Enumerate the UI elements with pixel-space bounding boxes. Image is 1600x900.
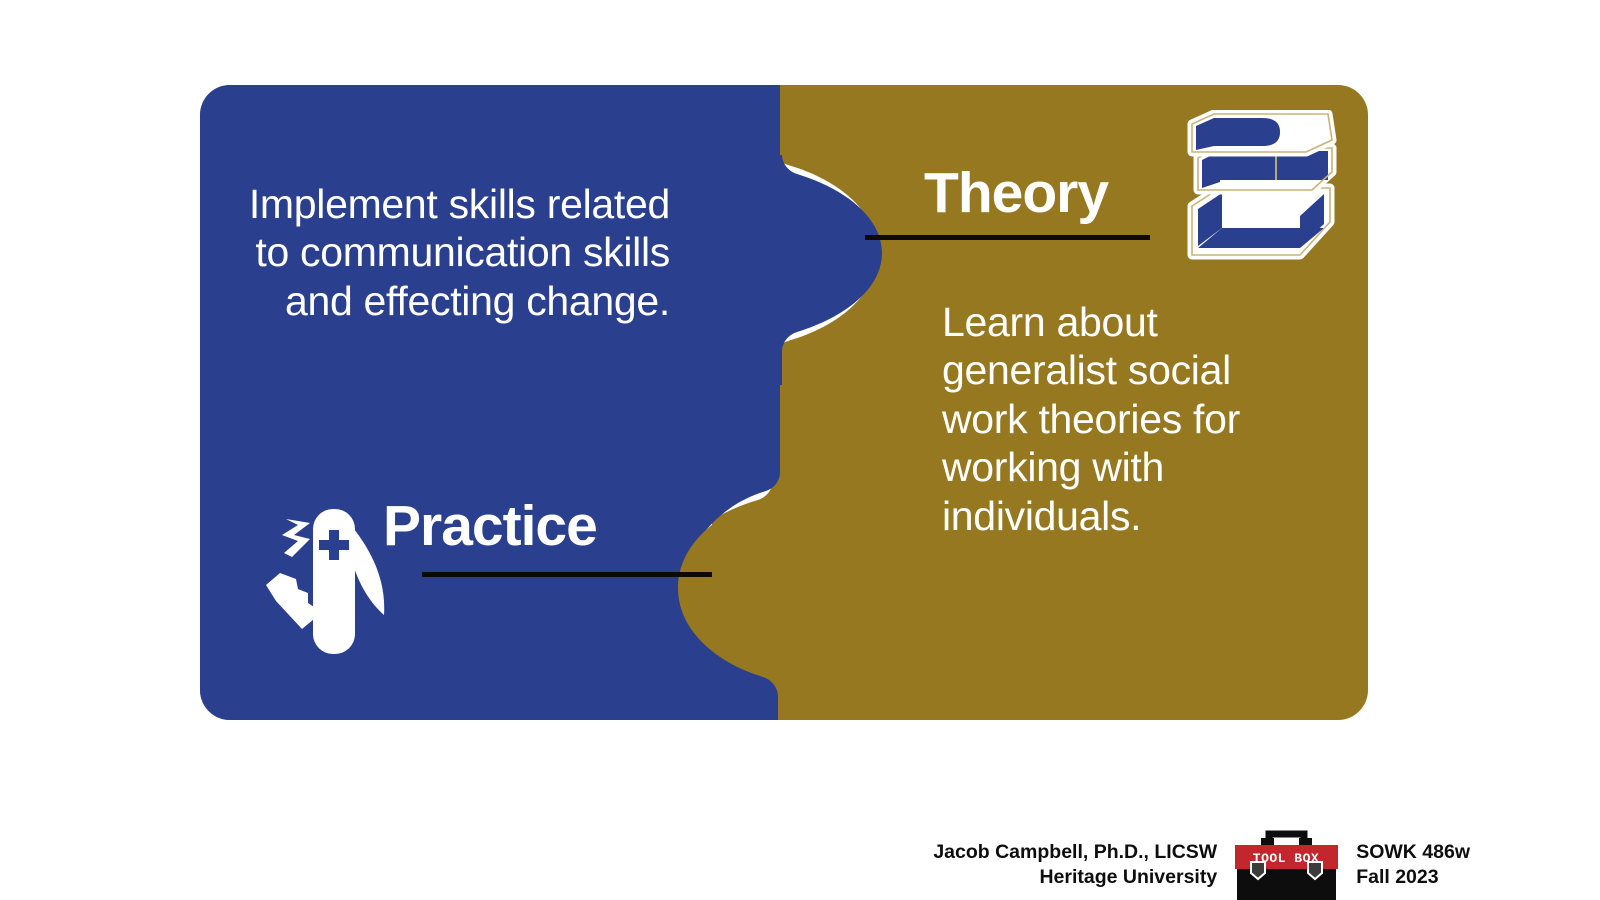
practice-connector-line [422,572,712,577]
theory-heading: Theory [924,160,1108,226]
practice-heading: Practice [383,493,597,559]
footer: Jacob Campbell, Ph.D., LICSW Heritage Un… [0,826,1600,900]
course-block: SOWK 486w Fall 2023 [1344,826,1470,891]
puzzle-graphic: Theory Practice Implement skills related… [200,85,1368,720]
toolbox-logo: TOOL BOX [1229,826,1344,900]
stack-of-books-icon [1180,110,1340,265]
course-term: Fall 2023 [1356,865,1470,890]
author-institution: Heritage University [933,865,1217,890]
practice-description: Implement skills related to communicatio… [230,180,670,325]
author-name: Jacob Campbell, Ph.D., LICSW [933,840,1217,865]
course-code: SOWK 486w [1356,840,1470,865]
theory-description: Learn about generalist social work theor… [942,298,1302,540]
theory-connector-line [865,235,1150,240]
author-block: Jacob Campbell, Ph.D., LICSW Heritage Un… [933,826,1229,891]
toolbox-logo-label: TOOL BOX [1253,851,1319,866]
swiss-army-knife-icon [258,497,408,657]
